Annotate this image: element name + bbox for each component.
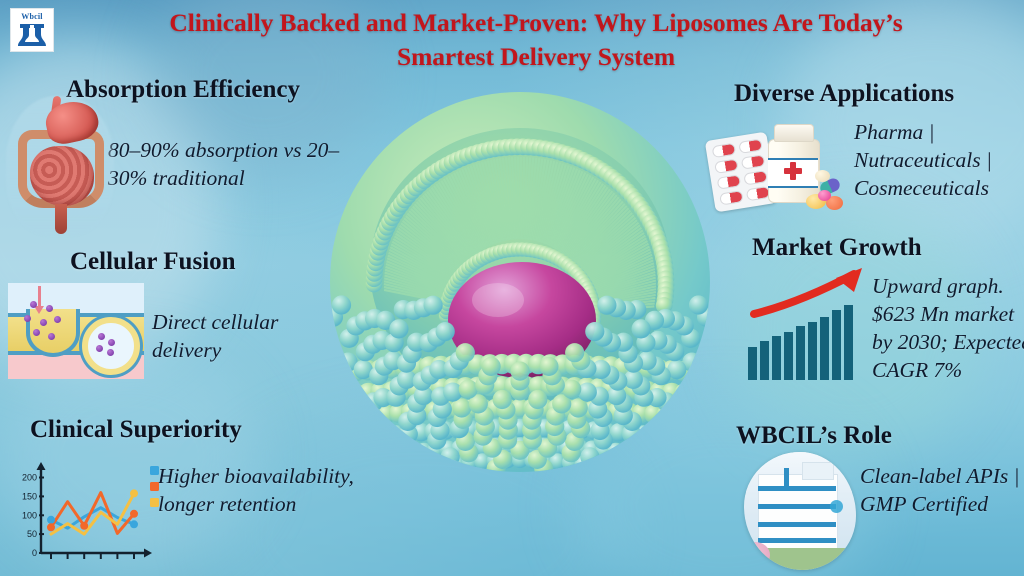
legend-swatch-blue (150, 466, 159, 475)
wbcil-facility-photo (744, 452, 856, 570)
body-cellular-fusion: Direct cellular delivery (152, 308, 322, 364)
medical-cross-icon (784, 168, 802, 174)
bar-group (748, 302, 868, 380)
line-chart-svg: 050100150200 (6, 458, 162, 564)
building-band (758, 486, 836, 491)
drug-particle (96, 345, 103, 352)
logo-wordmark: Wbcil (21, 12, 42, 21)
body-clinical-superiority: Higher bioavailability, longer retention (158, 462, 358, 518)
body-market-growth: Upward graph. $623 Mn market by 2030; Ex… (872, 272, 1024, 384)
pills-bottle-icon (702, 106, 850, 214)
small-intestine-shape (30, 146, 94, 206)
heading-diverse-applications: Diverse Applications (734, 80, 954, 108)
digestive-system-icon (6, 96, 114, 236)
legend-swatch-yellow (150, 498, 159, 507)
capsule (746, 186, 771, 201)
building-band (758, 504, 836, 509)
clinical-line-chart: 050100150200 (6, 458, 162, 564)
chart-marker (47, 516, 55, 524)
bar (796, 326, 805, 380)
capsule (719, 190, 744, 205)
rectum-shape (55, 204, 67, 234)
building-band (758, 538, 836, 543)
drug-particle (30, 301, 37, 308)
y-axis-tick-label: 50 (27, 529, 37, 539)
capsule (743, 170, 768, 185)
bar (844, 305, 853, 380)
bar (760, 341, 769, 380)
bar (784, 332, 793, 380)
legend-swatch-orange (150, 482, 159, 491)
down-arrow-icon (38, 286, 41, 308)
y-axis-tick-label: 150 (22, 491, 37, 501)
y-axis-tick-label: 200 (22, 473, 37, 483)
page-title: Clinically Backed and Market-Proven: Why… (96, 6, 976, 74)
bar (820, 317, 829, 380)
bar (772, 336, 781, 381)
body-diverse-applications: Pharma | Nutraceuticals | Cosmeceuticals (854, 118, 1024, 202)
photo-mask (744, 452, 856, 570)
heading-market-growth: Market Growth (752, 234, 922, 262)
capsule (717, 174, 742, 189)
page-title-line-1: Clinically Backed and Market-Proven: Why… (169, 8, 902, 37)
capsule (738, 138, 763, 153)
bar (808, 322, 817, 380)
vesicle-shape (82, 317, 140, 375)
heading-wbcil-role: WBCIL’s Role (736, 422, 892, 450)
heading-clinical-superiority: Clinical Superiority (30, 416, 242, 444)
building-band (758, 522, 836, 527)
capsule (714, 158, 739, 173)
drug-particle (108, 339, 115, 346)
body-absorption-efficiency: 80–90% absorption vs 20–30% traditional (108, 136, 348, 192)
roof-structure (802, 462, 834, 480)
bottle-cap (774, 124, 814, 142)
wbcil-logo: Wbcil (10, 8, 54, 52)
chart-marker (130, 510, 138, 518)
antenna (784, 468, 789, 490)
drug-particle (107, 349, 114, 356)
pill (815, 170, 830, 182)
drug-particle (98, 333, 105, 340)
y-axis-tick-label: 0 (32, 548, 37, 558)
blister-pack (705, 132, 778, 213)
diagram-frame (8, 283, 144, 379)
drug-particle (40, 319, 47, 326)
flask-icon (17, 22, 47, 49)
y-axis-arrow (37, 462, 46, 470)
infographic-canvas: Wbcil Clinically Backed and Market-Prove… (0, 0, 1024, 576)
bar (832, 310, 841, 380)
chart-marker (47, 523, 55, 531)
liposome-illustration (320, 72, 720, 478)
body-wbcil-role: Clean-label APIs | GMP Certified (860, 462, 1024, 518)
heading-cellular-fusion: Cellular Fusion (70, 248, 236, 276)
bar (748, 347, 757, 380)
accent-dot (830, 500, 843, 513)
x-axis-arrow (144, 549, 152, 558)
page-title-line-2: Smartest Delivery System (96, 40, 976, 74)
pill (818, 190, 831, 201)
market-growth-chart (748, 268, 868, 380)
drug-particle (24, 315, 31, 322)
y-axis-tick-label: 100 (22, 510, 37, 520)
drug-particle (33, 329, 40, 336)
drug-particle (48, 333, 55, 340)
capsule (741, 154, 766, 169)
chart-marker (80, 522, 88, 530)
cell-fusion-diagram (8, 283, 144, 379)
drug-particle (54, 316, 61, 323)
chart-marker (130, 489, 138, 497)
chart-marker (130, 520, 138, 528)
capsule (712, 143, 737, 158)
drug-particle (46, 305, 53, 312)
